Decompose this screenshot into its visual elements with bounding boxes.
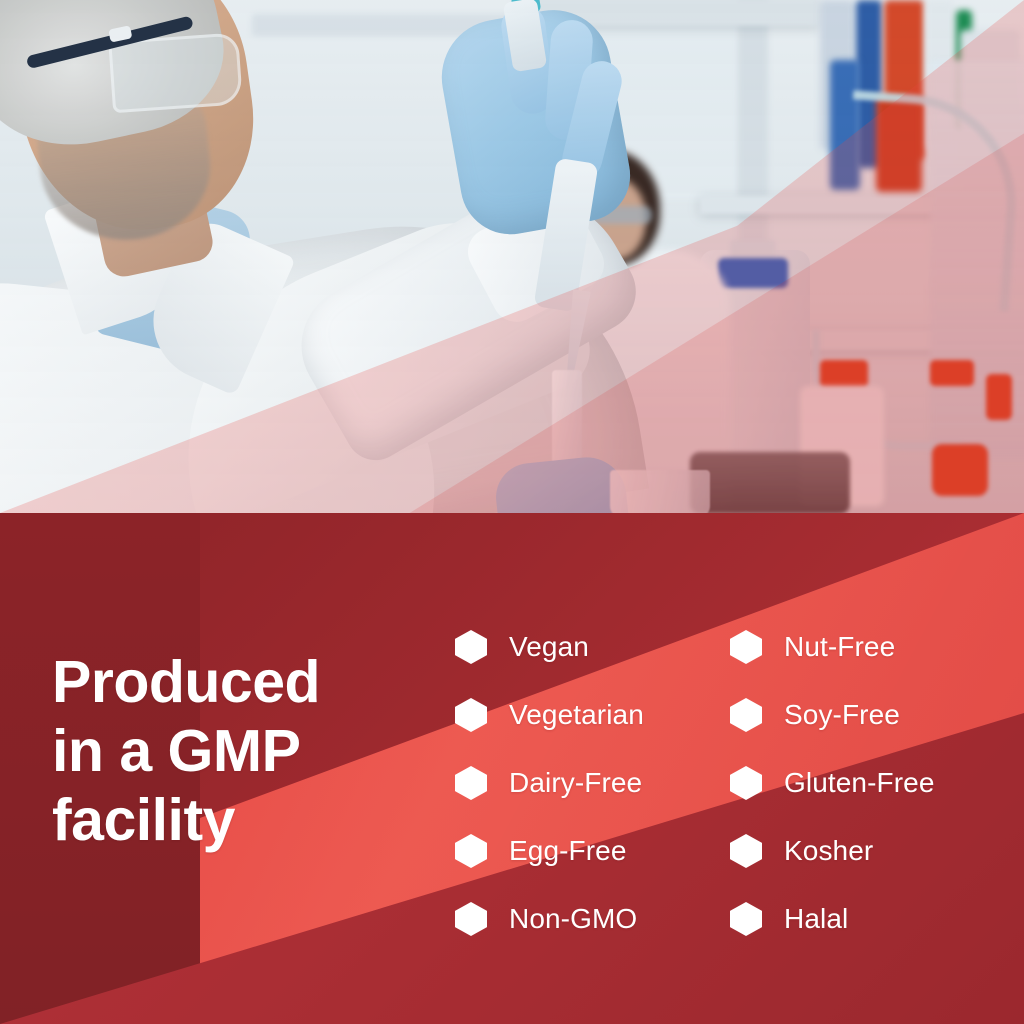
feature-label: Non-GMO — [509, 903, 637, 935]
feature-label: Kosher — [784, 835, 873, 867]
hexagon-bullet-icon — [730, 834, 762, 868]
feature-label: Dairy-Free — [509, 767, 642, 799]
hexagon-bullet-icon — [455, 698, 487, 732]
list-item: Vegan — [455, 613, 730, 681]
lab-scene — [0, 0, 1024, 513]
hexagon-bullet-icon — [455, 902, 487, 936]
feature-label: Soy-Free — [784, 699, 900, 731]
feature-label: Egg-Free — [509, 835, 627, 867]
feature-label: Vegan — [509, 631, 589, 663]
list-item: Egg-Free — [455, 817, 730, 885]
feature-label: Vegetarian — [509, 699, 644, 731]
feature-label: Gluten-Free — [784, 767, 935, 799]
list-item: Nut-Free — [730, 613, 1005, 681]
allergen-certification-column: Nut-Free Soy-Free Gluten-Free Kosher — [730, 613, 1005, 953]
hero-photo — [0, 0, 1024, 513]
feature-label: Nut-Free — [784, 631, 895, 663]
hexagon-bullet-icon — [730, 766, 762, 800]
list-item: Dairy-Free — [455, 749, 730, 817]
hexagon-bullet-icon — [730, 698, 762, 732]
red-info-panel: Produced in a GMP facility Vegan Vegetar… — [0, 513, 1024, 1024]
list-item: Non-GMO — [455, 885, 730, 953]
feature-label: Halal — [784, 903, 848, 935]
feature-columns: Vegan Vegetarian Dairy-Free Egg-Free — [455, 613, 1005, 953]
list-item: Gluten-Free — [730, 749, 1005, 817]
hexagon-bullet-icon — [455, 834, 487, 868]
banner-canvas: Produced in a GMP facility Vegan Vegetar… — [0, 0, 1024, 1024]
panel-content: Produced in a GMP facility Vegan Vegetar… — [0, 513, 1024, 1024]
page-title: Produced in a GMP facility — [52, 648, 452, 855]
diet-column: Vegan Vegetarian Dairy-Free Egg-Free — [455, 613, 730, 953]
list-item: Halal — [730, 885, 1005, 953]
list-item: Soy-Free — [730, 681, 1005, 749]
hexagon-bullet-icon — [455, 766, 487, 800]
list-item: Vegetarian — [455, 681, 730, 749]
hexagon-bullet-icon — [455, 630, 487, 664]
list-item: Kosher — [730, 817, 1005, 885]
hexagon-bullet-icon — [730, 902, 762, 936]
hexagon-bullet-icon — [730, 630, 762, 664]
